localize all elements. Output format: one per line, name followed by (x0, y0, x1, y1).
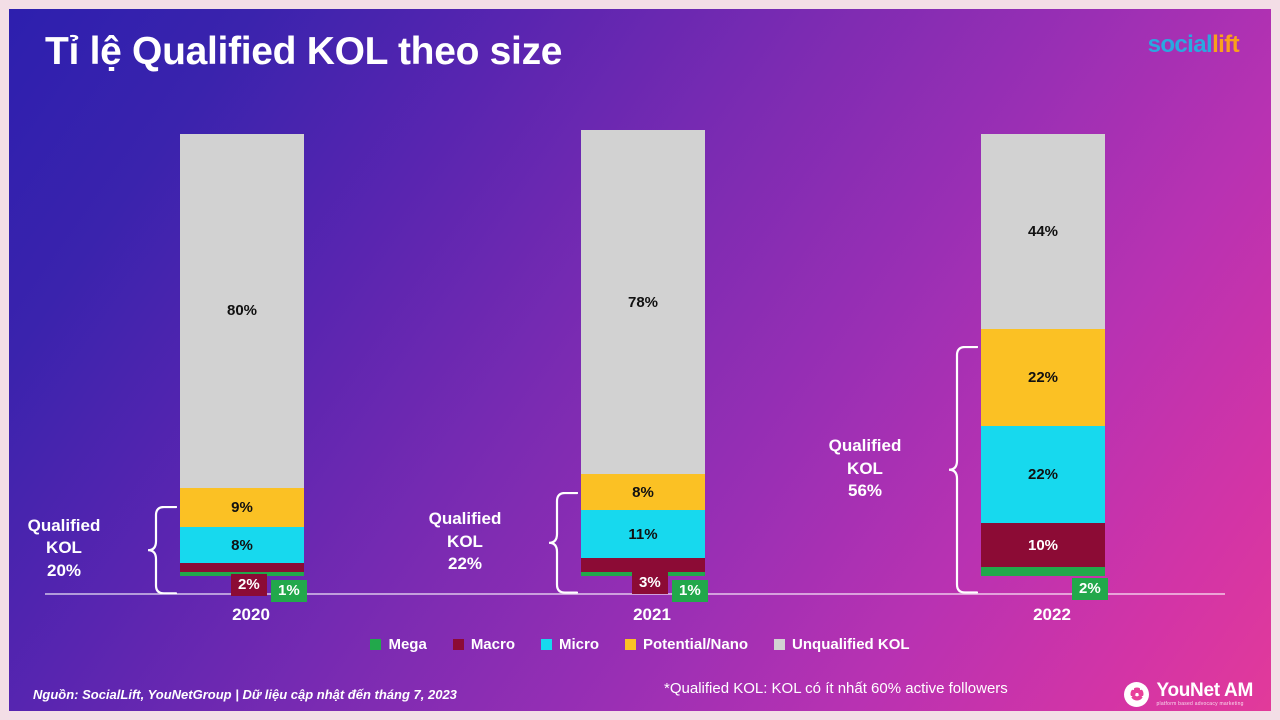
qualified-definition-note: *Qualified KOL: KOL có ít nhất 60% activ… (664, 680, 1008, 697)
bar-2021[interactable]: 11%8%78% (581, 130, 705, 576)
segment-value-label: 8% (632, 485, 654, 500)
segment-badge-mega: 2% (1072, 578, 1108, 600)
legend-label: Unqualified KOL (792, 637, 910, 652)
bar-segment-potential-nano[interactable]: 22% (981, 329, 1105, 426)
annotation-line-1: Qualified (790, 435, 940, 457)
source-note: Nguồn: SocialLift, YouNetGroup | Dữ liệu… (33, 687, 457, 702)
segment-value-label: 22% (1028, 467, 1058, 482)
annotation-line-1: Qualified (390, 508, 540, 530)
x-axis-label-2022: 2022 (990, 605, 1114, 625)
legend-item-macro[interactable]: Macro (453, 637, 515, 652)
legend-label: Macro (471, 637, 515, 652)
bar-segment-unqualified-kol[interactable]: 80% (180, 134, 304, 488)
qualified-kol-annotation-2020: QualifiedKOL20% (9, 515, 139, 582)
qualified-kol-annotation-2021: QualifiedKOL22% (390, 508, 540, 575)
annotation-line-3: 20% (9, 560, 139, 582)
younet-logo-tagline: platform based advocacy marketing (1156, 702, 1253, 708)
bar-segment-micro[interactable]: 8% (180, 527, 304, 562)
legend-swatch-icon (541, 639, 552, 650)
segment-value-label: 9% (231, 500, 253, 515)
bar-segment-macro[interactable] (180, 563, 304, 572)
chart-plot-area: 8%9%80%1%2%202011%8%78%1%3%202110%22%22%… (9, 9, 1271, 711)
annotation-line-1: Qualified (9, 515, 139, 537)
bar-segment-unqualified-kol[interactable]: 44% (981, 134, 1105, 328)
legend-item-potential-nano[interactable]: Potential/Nano (625, 637, 748, 652)
annotation-line-3: 56% (790, 480, 940, 502)
annotation-line-2: KOL (9, 537, 139, 559)
bar-segment-potential-nano[interactable]: 8% (581, 474, 705, 509)
younet-flower-icon (1124, 682, 1149, 707)
segment-badge-mega: 1% (271, 580, 307, 602)
legend-swatch-icon (370, 639, 381, 650)
bar-segment-micro[interactable]: 11% (581, 510, 705, 559)
legend-label: Micro (559, 637, 599, 652)
legend-label: Potential/Nano (643, 637, 748, 652)
legend-swatch-icon (774, 639, 785, 650)
segment-value-label: 44% (1028, 224, 1058, 239)
legend-swatch-icon (625, 639, 636, 650)
qualified-kol-brace-2 (948, 346, 978, 594)
bar-2022[interactable]: 10%22%22%44% (981, 134, 1105, 576)
segment-value-label: 22% (1028, 370, 1058, 385)
legend-item-unqualified-kol[interactable]: Unqualified KOL (774, 637, 910, 652)
qualified-kol-annotation-2022: QualifiedKOL56% (790, 435, 940, 502)
legend-item-mega[interactable]: Mega (370, 637, 426, 652)
legend-label: Mega (388, 637, 426, 652)
younet-logo-text: YouNet AM platform based advocacy market… (1156, 681, 1253, 707)
segment-badge-mega: 1% (672, 580, 708, 602)
legend-swatch-icon (453, 639, 464, 650)
younet-logo-name: YouNet AM (1156, 681, 1253, 701)
bar-segment-macro[interactable] (581, 558, 705, 571)
bar-segment-macro[interactable]: 10% (981, 523, 1105, 567)
bar-segment-unqualified-kol[interactable]: 78% (581, 130, 705, 475)
segment-value-label: 78% (628, 295, 658, 310)
slide-canvas: Tỉ lệ Qualified KOL theo size sociallift… (9, 9, 1271, 711)
chart-legend: MegaMacroMicroPotential/NanoUnqualified … (9, 637, 1271, 652)
legend-item-micro[interactable]: Micro (541, 637, 599, 652)
annotation-line-2: KOL (790, 458, 940, 480)
segment-badge-macro: 2% (231, 574, 267, 596)
segment-value-label: 80% (227, 303, 257, 318)
bar-segment-potential-nano[interactable]: 9% (180, 488, 304, 528)
segment-value-label: 8% (231, 538, 253, 553)
bar-segment-micro[interactable]: 22% (981, 426, 1105, 523)
qualified-kol-brace-1 (548, 492, 578, 594)
annotation-line-2: KOL (390, 531, 540, 553)
x-axis-label-2020: 2020 (189, 605, 313, 625)
segment-value-label: 11% (628, 527, 657, 542)
bar-2020[interactable]: 8%9%80% (180, 134, 304, 576)
segment-badge-macro: 3% (632, 572, 668, 594)
annotation-line-3: 22% (390, 553, 540, 575)
qualified-kol-brace-0 (147, 506, 177, 594)
younet-am-logo: YouNet AM platform based advocacy market… (1124, 681, 1253, 707)
x-axis-label-2021: 2021 (590, 605, 714, 625)
bar-segment-mega[interactable] (981, 567, 1105, 576)
segment-value-label: 10% (1028, 538, 1058, 553)
